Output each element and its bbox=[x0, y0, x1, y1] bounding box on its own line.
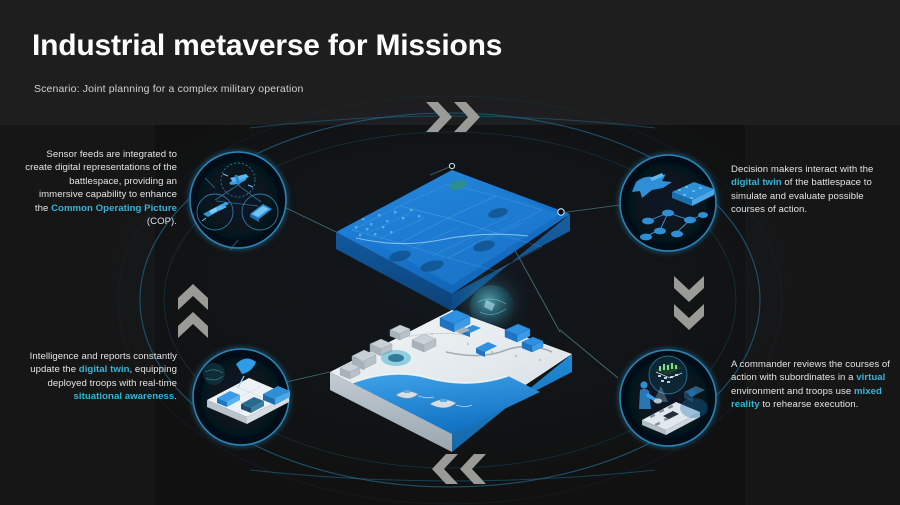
highlighted-term: Common Operating Picture bbox=[51, 203, 177, 214]
flow-arrow-bottom bbox=[424, 452, 488, 491]
flow-arrow-right bbox=[672, 274, 706, 343]
commander-review-node[interactable] bbox=[620, 350, 716, 446]
flow-arrow-left bbox=[176, 276, 210, 345]
intelligence-reports-node[interactable] bbox=[193, 349, 290, 445]
highlighted-term: digital twin bbox=[731, 177, 782, 188]
decision-makers-text: Decision makers interact with the digita… bbox=[731, 163, 891, 217]
commander-review-text: A commander reviews the courses of actio… bbox=[731, 358, 891, 412]
sensor-feeds-text: Sensor feeds are integrated to create di… bbox=[25, 148, 177, 228]
body-text: environment and troops use bbox=[731, 386, 854, 397]
body-text: to rehearse execution. bbox=[760, 399, 859, 410]
flow-arrow-right-icon bbox=[672, 274, 706, 338]
highlighted-term: situational awareness bbox=[74, 391, 175, 402]
infographic-stage: Industrial metaverse for Missions Scenar… bbox=[0, 0, 900, 505]
intelligence-reports-text: Intelligence and reports constantly upda… bbox=[25, 350, 177, 404]
body-text: Decision makers interact with the bbox=[731, 164, 873, 175]
decision-makers-node[interactable] bbox=[620, 155, 716, 251]
flow-arrow-bottom-icon bbox=[424, 452, 488, 486]
diagram-canvas bbox=[0, 0, 900, 505]
flow-arrow-left-icon bbox=[176, 276, 210, 340]
sensor-feeds-node[interactable] bbox=[190, 152, 286, 250]
globe-backdrop-icon bbox=[203, 363, 225, 385]
flow-arrow-top bbox=[424, 100, 488, 139]
flow-arrow-top-icon bbox=[424, 100, 488, 134]
highlighted-term: virtual bbox=[856, 372, 885, 383]
body-text: . bbox=[174, 391, 177, 402]
digital-twin-terrain bbox=[336, 170, 570, 311]
highlighted-term: digital twin bbox=[79, 364, 130, 375]
physical-terrain bbox=[330, 310, 572, 452]
body-text: (COP). bbox=[147, 216, 177, 227]
